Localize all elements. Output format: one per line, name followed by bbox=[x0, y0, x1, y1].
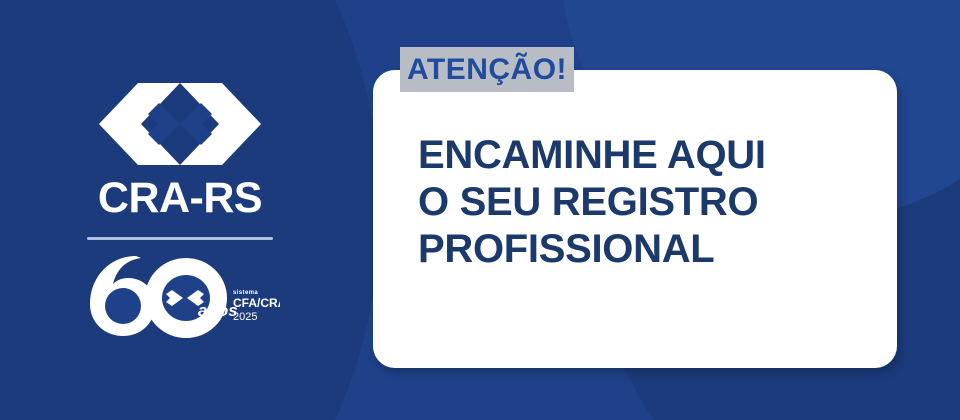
cra-double-diamond-icon bbox=[96, 83, 264, 165]
brand-block: CRA-RS anos sistema CFA/CRAs 2025 bbox=[0, 0, 360, 420]
sixty-years-icon: anos sistema CFA/CRAs 2025 bbox=[80, 254, 280, 338]
attention-badge: ATENÇÃO! bbox=[400, 47, 574, 92]
message-card[interactable]: ENCAMINHE AQUI O SEU REGISTRO PROFISSION… bbox=[373, 70, 897, 368]
headline-line-3: PROFISSIONAL bbox=[418, 226, 878, 273]
brand-divider bbox=[87, 237, 273, 240]
anniversary-year: 2025 bbox=[233, 311, 257, 323]
brand-name: CRA-RS bbox=[98, 177, 262, 220]
anniversary-system-name: CFA/CRAs bbox=[233, 296, 280, 310]
anniversary-word: anos bbox=[198, 301, 238, 320]
attention-badge-label: ATENÇÃO! bbox=[407, 55, 567, 85]
headline-line-1: ENCAMINHE AQUI bbox=[418, 132, 878, 179]
promo-banner: CRA-RS anos sistema CFA/CRAs 2025 ENCAMI… bbox=[0, 0, 960, 420]
page-title: ENCAMINHE AQUI O SEU REGISTRO PROFISSION… bbox=[418, 132, 878, 274]
headline-line-2: O SEU REGISTRO bbox=[418, 179, 878, 226]
